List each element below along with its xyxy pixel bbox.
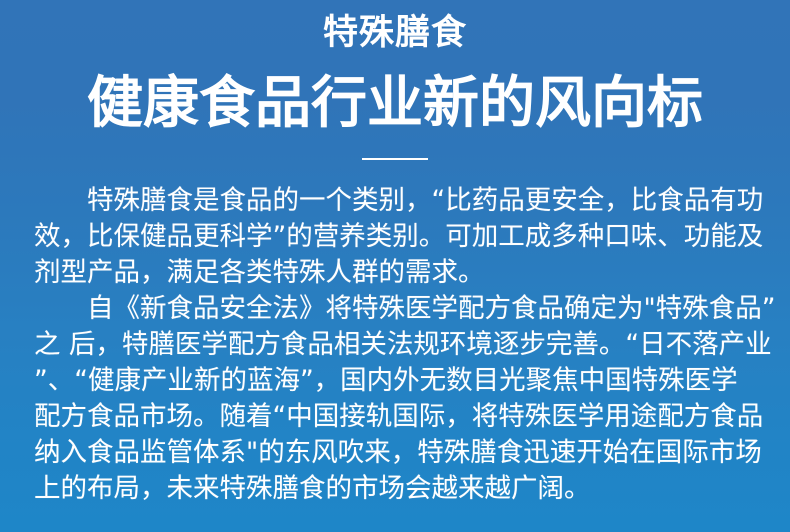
body-line: 纳入食品监管体系"的东风吹来，特殊膳食迅速开始在国际市场 <box>34 435 756 471</box>
body-line: 效，比保健品更科学”的营养类别。可加工成多种口味、功能及 <box>34 219 756 255</box>
poster-subtitle: 特殊膳食 <box>0 0 790 54</box>
body-line: 自《新食品安全法》将特殊医学配方食品确定为"特殊食品” <box>34 291 756 327</box>
body-line: 剂型产品，满足各类特殊人群的需求。 <box>34 255 756 291</box>
title-divider-wrap <box>0 136 790 160</box>
body-line: 配方食品市场。随着“中国接轨国际，将特殊医学用途配方食品 <box>34 399 756 435</box>
body-line: 之 后，特膳医学配方食品相关法规环境逐步完善。“日不落产业 <box>34 327 756 363</box>
body-line: 特殊膳食是食品的一个类别，“比药品更安全，比食品有功 <box>34 183 756 219</box>
poster-header: 特殊膳食 健康食品行业新的风向标 <box>0 0 790 160</box>
poster-main-title: 健康食品行业新的风向标 <box>0 54 790 136</box>
title-divider <box>362 158 428 160</box>
body-line: 上的布局，未来特殊膳食的市场会越来越广阔。 <box>34 471 756 507</box>
promotional-poster: 特殊膳食 健康食品行业新的风向标 特殊膳食是食品的一个类别，“比药品更安全，比食… <box>0 0 790 532</box>
poster-body-copy: 特殊膳食是食品的一个类别，“比药品更安全，比食品有功 效，比保健品更科学”的营养… <box>34 183 756 507</box>
body-line: ”、“健康产业新的蓝海”，国内外无数目光聚焦中国特殊医学 <box>34 363 756 399</box>
